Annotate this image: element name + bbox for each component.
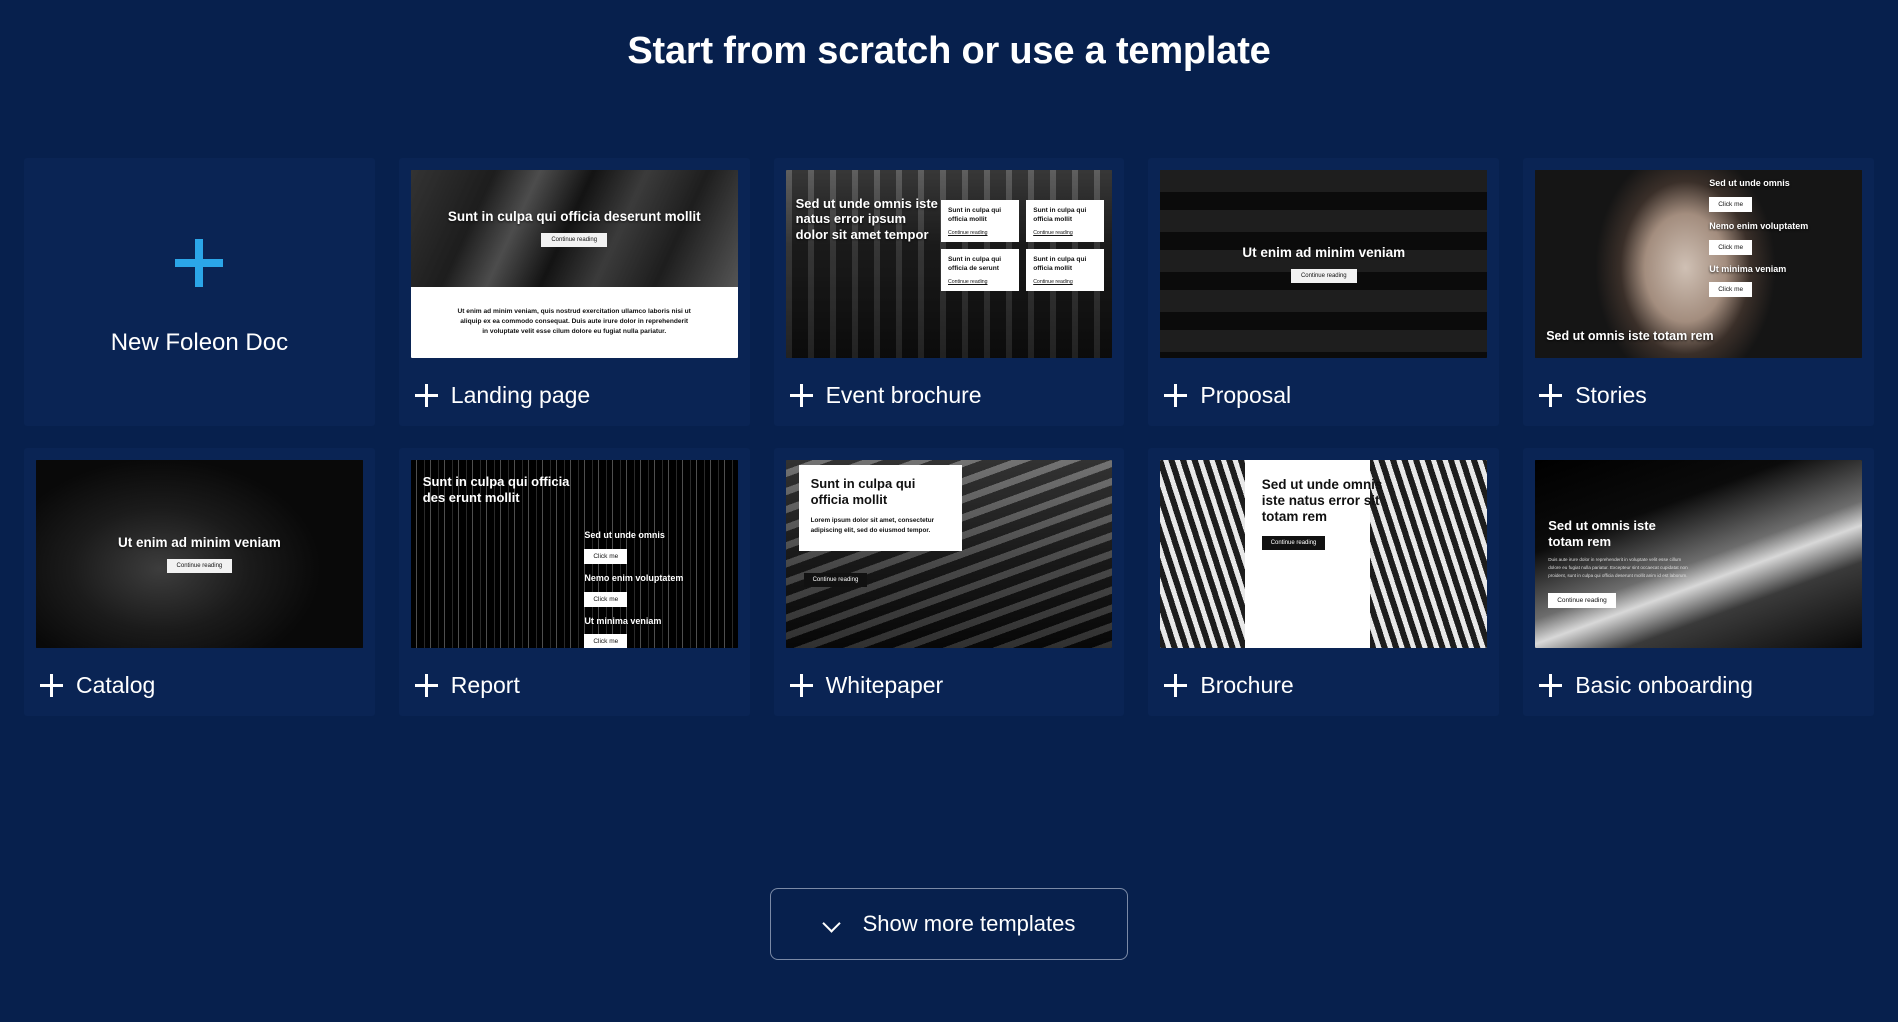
thumb-card: Sunt in culpa qui officia mollit Continu… <box>941 200 1019 242</box>
template-label-text: Stories <box>1575 382 1647 409</box>
template-picker-page: Start from scratch or use a template New… <box>0 0 1898 1022</box>
template-label-text: Catalog <box>76 672 155 699</box>
thumb-click-me-button: Click me <box>1709 197 1752 212</box>
thumb-heading: Sed ut omnis iste totam rem <box>1548 518 1689 549</box>
template-label-event-brochure[interactable]: Event brochure <box>786 358 1113 409</box>
template-label-report[interactable]: Report <box>411 648 738 699</box>
hero-content: Ut enim ad minim veniam Continue reading <box>36 460 363 648</box>
thumb-continue-reading-button: Continue reading <box>1291 269 1357 283</box>
thumb-card-link: Continue reading <box>948 279 1012 285</box>
thumb-content: Sed ut unde omnis iste natus error sit t… <box>1262 477 1399 550</box>
thumb-card: Sunt in culpa qui officia de serunt Cont… <box>941 249 1019 291</box>
thumb-link-item: Ut minima veniam Click me <box>584 616 721 648</box>
show-more-templates-label: Show more templates <box>863 911 1076 937</box>
thumb-click-me-button: Click me <box>584 549 627 564</box>
template-card-brochure[interactable]: Sed ut unde omnis iste natus error sit t… <box>1148 448 1499 716</box>
thumb-button-wrap: Continue reading <box>1548 589 1689 608</box>
plus-icon <box>415 674 438 697</box>
thumb-hero: Sunt in culpa qui officia deserunt molli… <box>411 170 738 287</box>
template-thumbnail-basic-onboarding: Sed ut omnis iste totam rem Duis aute ir… <box>1535 460 1862 648</box>
thumb-card: Sunt in culpa qui officia mollit Continu… <box>1026 200 1104 242</box>
template-thumbnail-event-brochure: Sed ut unde omnis iste natus error ipsum… <box>786 170 1113 358</box>
thumb-card-heading: Sunt in culpa qui officia mollit <box>1033 256 1097 273</box>
thumb-link-item: Sed ut unde omnis Click me <box>1709 178 1853 212</box>
thumb-card-heading: Sunt in culpa qui officia de serunt <box>948 256 1012 273</box>
thumb-link-heading: Nemo enim voluptatem <box>1709 221 1853 232</box>
template-card-whitepaper[interactable]: Sunt in culpa qui officia mollit Lorem i… <box>774 448 1125 716</box>
thumb-click-me-button: Click me <box>584 634 627 648</box>
thumb-content: Sed ut omnis iste totam rem Duis aute ir… <box>1548 518 1689 608</box>
template-label-text: Landing page <box>451 382 590 409</box>
thumb-card-link: Continue reading <box>948 230 1012 236</box>
template-label-basic-onboarding[interactable]: Basic onboarding <box>1535 648 1862 699</box>
template-card-catalog[interactable]: Ut enim ad minim veniam Continue reading… <box>24 448 375 716</box>
hero-image-facade-left <box>1160 460 1245 648</box>
thumb-link-heading: Sed ut unde omnis <box>584 530 721 541</box>
thumb-link-heading: Sed ut unde omnis <box>1709 178 1853 189</box>
template-label-text: Basic onboarding <box>1575 672 1753 699</box>
plus-icon <box>40 674 63 697</box>
thumb-card: Sunt in culpa qui officia mollit Continu… <box>1026 249 1104 291</box>
thumb-link-item: Sed ut unde omnis Click me <box>584 530 721 564</box>
show-more-wrap: Show more templates <box>0 888 1898 960</box>
template-card-event-brochure[interactable]: Sed ut unde omnis iste natus error ipsum… <box>774 158 1125 426</box>
thumb-card-heading: Sunt in culpa qui officia mollit <box>948 207 1012 224</box>
template-label-text: Event brochure <box>826 382 982 409</box>
thumb-overlay-card: Sunt in culpa qui officia mollit Lorem i… <box>799 465 962 551</box>
thumb-heading: Ut enim ad minim veniam <box>118 535 281 551</box>
template-label-text: Whitepaper <box>826 672 944 699</box>
template-label-brochure[interactable]: Brochure <box>1160 648 1487 699</box>
thumb-button-wrap: Continue reading <box>804 568 868 587</box>
thumb-body-text: Duis aute irure dolor in reprehenderit i… <box>1548 556 1689 580</box>
template-label-text: Report <box>451 672 520 699</box>
template-grid: New Foleon Doc Sunt in culpa qui officia… <box>24 158 1874 716</box>
thumb-heading: Sunt in culpa qui officia des erunt moll… <box>423 474 586 505</box>
template-thumbnail-proposal: Ut enim ad minim veniam Continue reading <box>1160 170 1487 358</box>
thumb-link-heading: Ut minima veniam <box>1709 264 1853 275</box>
template-thumbnail-whitepaper: Sunt in culpa qui officia mollit Lorem i… <box>786 460 1113 648</box>
thumb-card-list: Sunt in culpa qui officia mollit Continu… <box>941 200 1104 291</box>
thumb-heading: Sed ut unde omnis iste natus error ipsum… <box>796 196 940 242</box>
template-label-text: Brochure <box>1200 672 1293 699</box>
thumb-body-text: Lorem ipsum dolor sit amet, consectetur … <box>811 516 950 537</box>
template-thumbnail-landing-page: Sunt in culpa qui officia deserunt molli… <box>411 170 738 358</box>
thumb-click-me-button: Click me <box>1709 240 1752 255</box>
thumb-heading: Sunt in culpa qui officia mollit <box>811 476 950 507</box>
thumb-continue-reading-button: Continue reading <box>167 559 233 573</box>
template-card-stories[interactable]: Sed ut unde omnis Click me Nemo enim vol… <box>1523 158 1874 426</box>
new-foleon-doc-card[interactable]: New Foleon Doc <box>24 158 375 426</box>
hero-content: Ut enim ad minim veniam Continue reading <box>1160 170 1487 358</box>
thumb-continue-reading-button: Continue reading <box>541 233 607 247</box>
thumb-heading: Sed ut unde omnis iste natus error sit t… <box>1262 477 1399 526</box>
template-card-report[interactable]: Sunt in culpa qui officia des erunt moll… <box>399 448 750 716</box>
thumb-heading: Ut enim ad minim veniam <box>1242 245 1405 261</box>
thumb-link-list: Sed ut unde omnis Click me Nemo enim vol… <box>1709 178 1853 306</box>
thumb-continue-reading-button: Continue reading <box>1262 536 1326 550</box>
thumb-link-item: Nemo enim voluptatem Click me <box>584 573 721 607</box>
thumb-body-text: Ut enim ad minim veniam, quis nostrud ex… <box>457 307 692 338</box>
template-label-catalog[interactable]: Catalog <box>36 648 363 699</box>
template-thumbnail-brochure: Sed ut unde omnis iste natus error sit t… <box>1160 460 1487 648</box>
thumb-continue-reading-button: Continue reading <box>1548 593 1616 608</box>
chevron-down-icon <box>823 915 841 933</box>
template-label-whitepaper[interactable]: Whitepaper <box>786 648 1113 699</box>
template-card-landing-page[interactable]: Sunt in culpa qui officia deserunt molli… <box>399 158 750 426</box>
thumb-link-heading: Nemo enim voluptatem <box>584 573 721 584</box>
plus-icon <box>790 674 813 697</box>
thumb-click-me-button: Click me <box>1709 282 1752 297</box>
thumb-continue-reading-button: Continue reading <box>804 573 868 587</box>
template-label-stories[interactable]: Stories <box>1535 358 1862 409</box>
page-title: Start from scratch or use a template <box>0 30 1898 73</box>
plus-icon <box>415 384 438 407</box>
plus-icon <box>1539 384 1562 407</box>
thumb-link-item: Nemo enim voluptatem Click me <box>1709 221 1853 255</box>
plus-icon <box>1164 384 1187 407</box>
plus-icon <box>790 384 813 407</box>
hero-content: Sunt in culpa qui officia deserunt molli… <box>411 170 738 287</box>
template-thumbnail-catalog: Ut enim ad minim veniam Continue reading <box>36 460 363 648</box>
show-more-templates-button[interactable]: Show more templates <box>770 888 1129 960</box>
plus-icon <box>1539 674 1562 697</box>
new-foleon-doc-label: New Foleon Doc <box>111 329 288 357</box>
thumb-link-list: Sed ut unde omnis Click me Nemo enim vol… <box>584 530 721 648</box>
thumb-card-link: Continue reading <box>1033 230 1097 236</box>
template-label-landing-page[interactable]: Landing page <box>411 358 738 409</box>
thumb-body-section: Ut enim ad minim veniam, quis nostrud ex… <box>411 287 738 358</box>
template-label-proposal[interactable]: Proposal <box>1160 358 1487 409</box>
plus-icon <box>175 239 223 287</box>
thumb-click-me-button: Click me <box>584 592 627 607</box>
plus-icon <box>1164 674 1187 697</box>
thumb-link-heading: Ut minima veniam <box>584 616 721 627</box>
template-card-basic-onboarding[interactable]: Sed ut omnis iste totam rem Duis aute ir… <box>1523 448 1874 716</box>
thumb-heading: Sed ut omnis iste totam rem <box>1546 329 1736 344</box>
thumb-card-heading: Sunt in culpa qui officia mollit <box>1033 207 1097 224</box>
template-label-text: Proposal <box>1200 382 1291 409</box>
template-thumbnail-report: Sunt in culpa qui officia des erunt moll… <box>411 460 738 648</box>
template-thumbnail-stories: Sed ut unde omnis Click me Nemo enim vol… <box>1535 170 1862 358</box>
thumb-card-link: Continue reading <box>1033 279 1097 285</box>
template-card-proposal[interactable]: Ut enim ad minim veniam Continue reading… <box>1148 158 1499 426</box>
thumb-link-item: Ut minima veniam Click me <box>1709 264 1853 298</box>
thumb-heading: Sunt in culpa qui officia deserunt molli… <box>448 209 701 225</box>
